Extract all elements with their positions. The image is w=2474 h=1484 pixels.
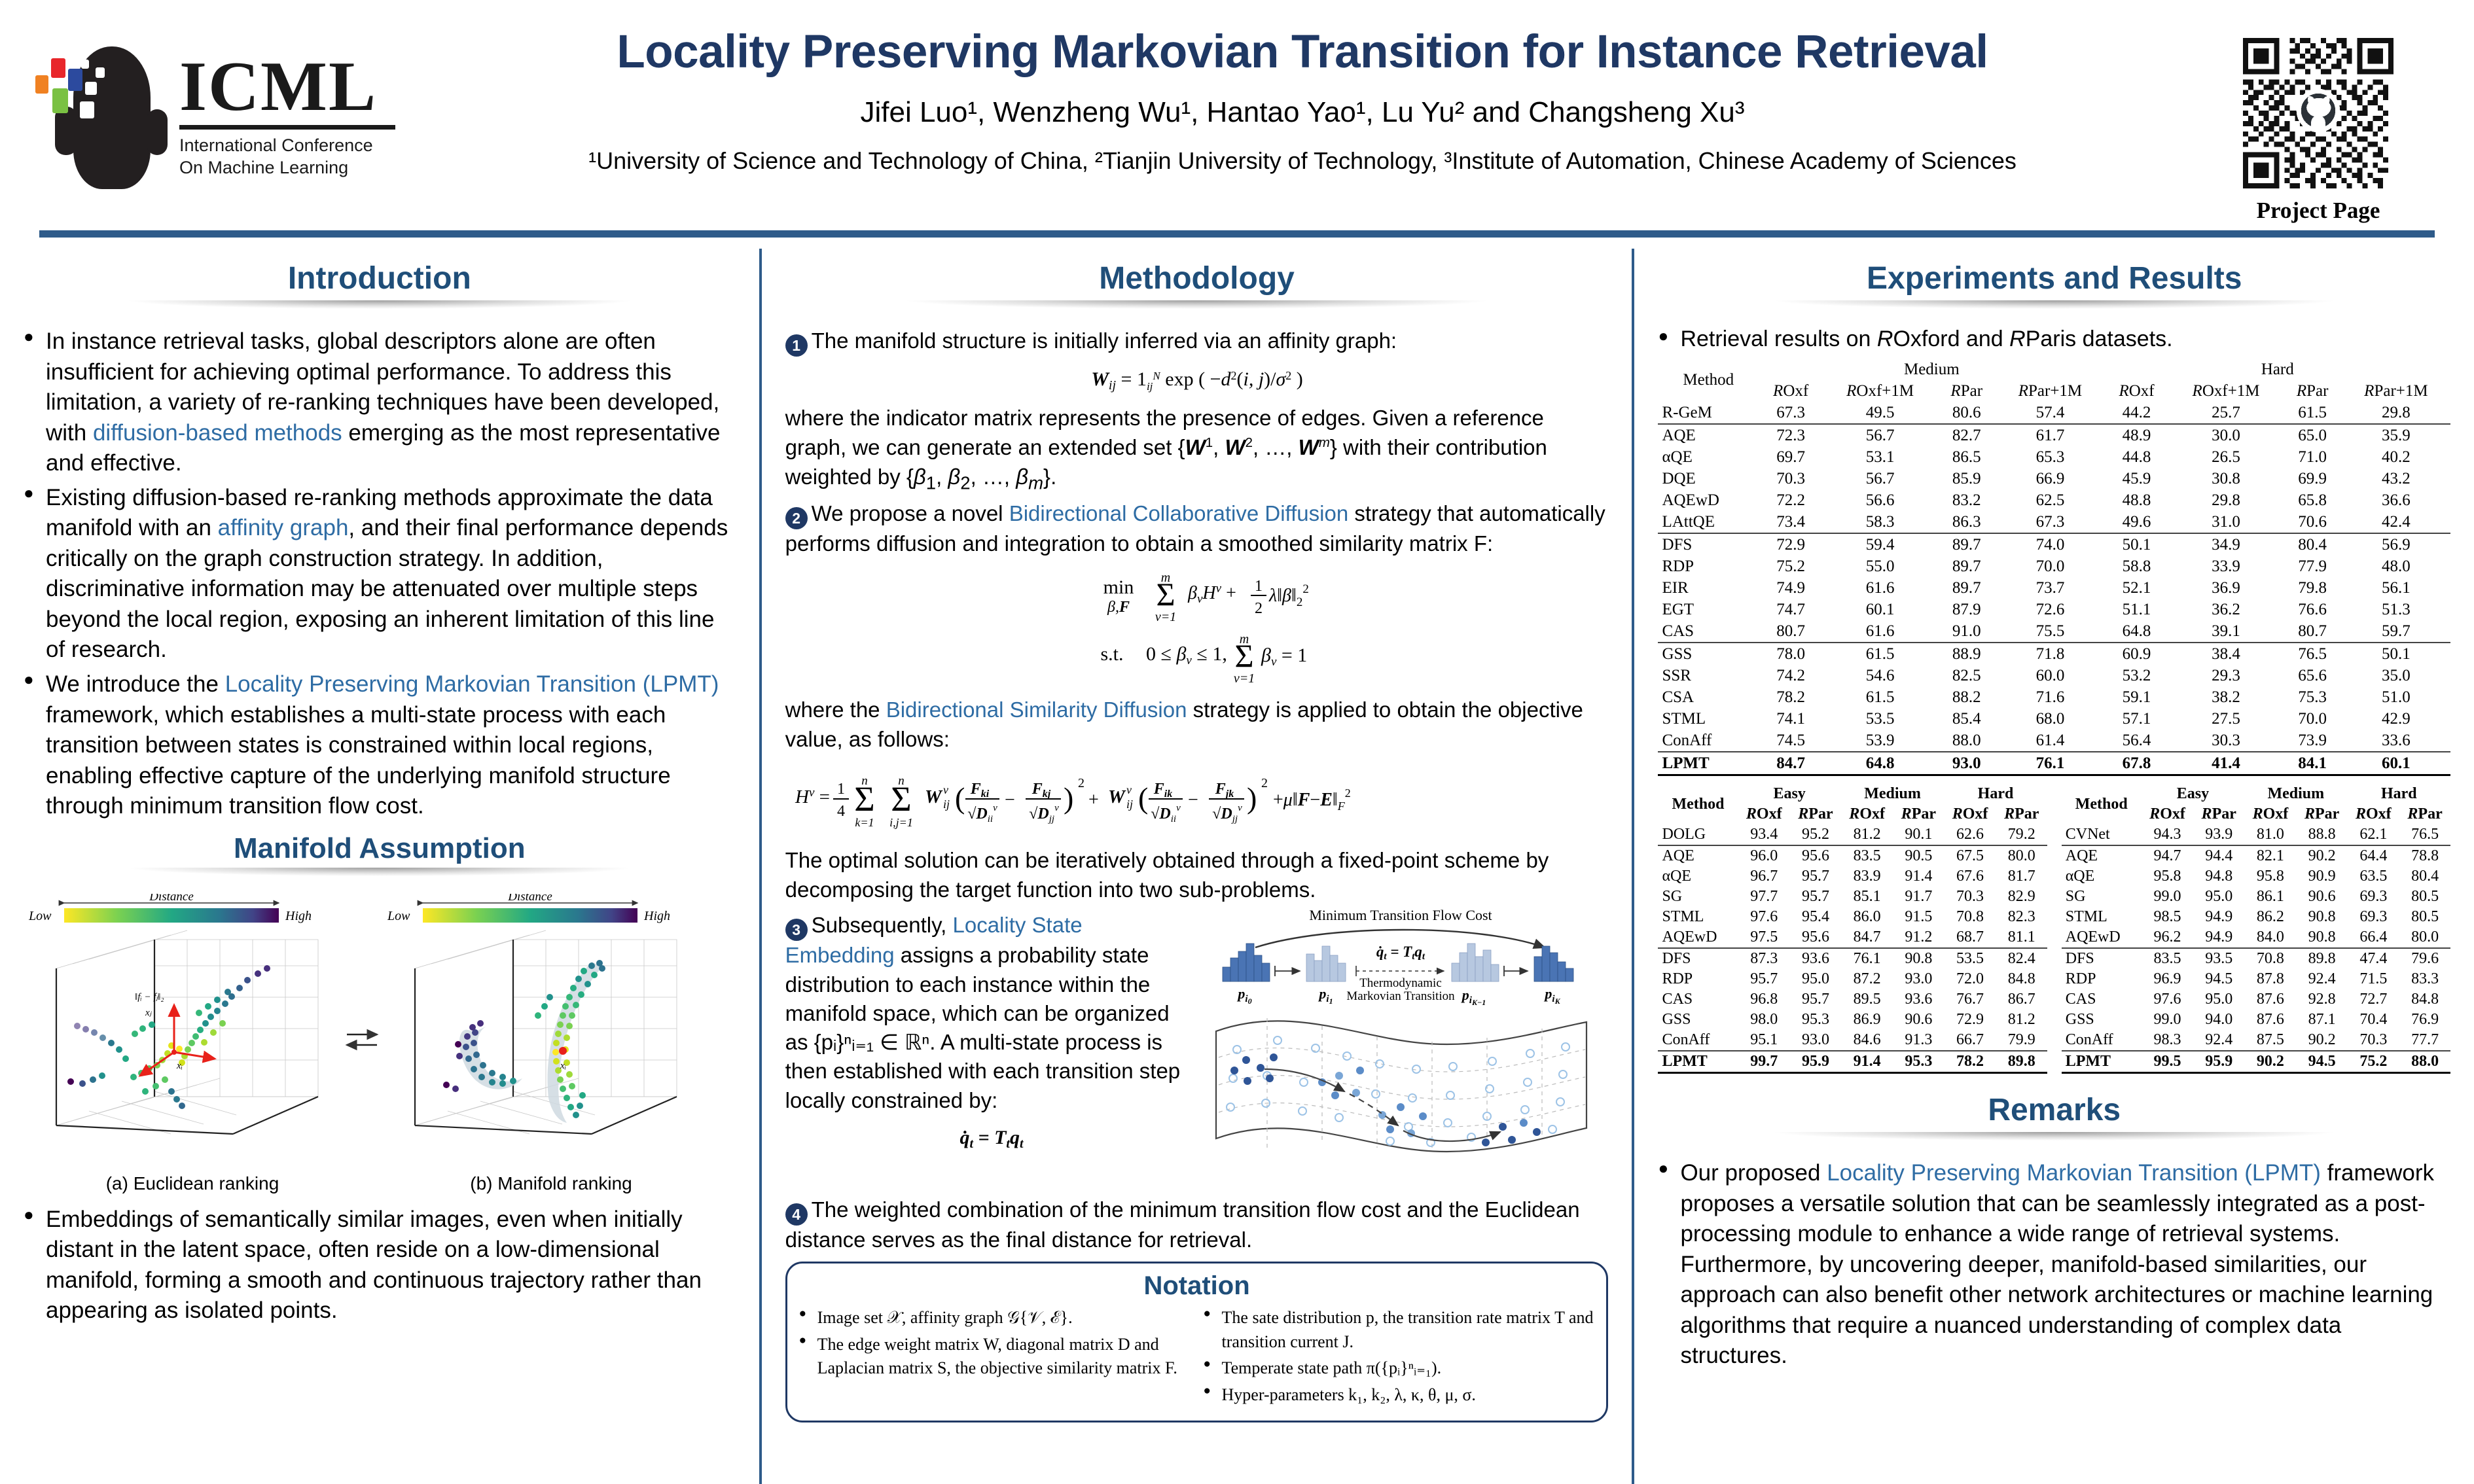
svg-text:2: 2 [1261, 776, 1268, 790]
cell-value-0: 95.8 [2142, 866, 2194, 887]
table-row: DFS83.593.570.889.847.479.6 [2062, 948, 2450, 969]
svg-text:β,F: β,F [1107, 599, 1130, 616]
cell-value-4: 60.9 [2105, 643, 2169, 665]
svg-text:High: High [643, 909, 670, 923]
svg-text:1: 1 [1255, 578, 1263, 595]
svg-text:s.t.: s.t. [1100, 643, 1123, 665]
cell-value-0: 99.0 [2142, 1010, 2194, 1030]
cell-value-3: 68.0 [1996, 708, 2104, 730]
column-subheader-4: ROxf [2105, 380, 2169, 402]
column-subheader-5: RPar [1996, 804, 2047, 824]
cell-method: R-GeM [1658, 402, 1759, 424]
cell-value-6: 75.3 [2284, 686, 2342, 708]
cell-value-2: 91.4 [1841, 1051, 1893, 1073]
remarks-bullets: Our proposed Locality Preserving Markovi… [1658, 1158, 2450, 1371]
list-item: The edge weight matrix W, diagonal matri… [799, 1333, 1191, 1381]
cell-value-5: 26.5 [2169, 446, 2284, 468]
cell-value-5: 30.0 [2169, 424, 2284, 446]
list-item: We introduce the Locality Preserving Mar… [24, 669, 736, 822]
svg-text:Wij = 1ijN exp ( −d2(i, j)/σ2: Wij = 1ijN exp ( −d2(i, j)/σ2 ) [1091, 368, 1303, 393]
title-block: Locality Preserving Markovian Transition… [419, 26, 2186, 175]
column-subheader-1: RPar [2193, 804, 2244, 824]
column-subheader-3: RPar [2297, 804, 2348, 824]
table-row: LPMT99.595.990.294.575.288.0 [2062, 1051, 2450, 1073]
svg-text:ij: ij [1126, 798, 1133, 811]
cell-value-3: 94.5 [2297, 1051, 2348, 1073]
table-row: R-GeM67.349.580.657.444.225.761.529.8 [1658, 402, 2450, 424]
section-divider [1664, 300, 2444, 317]
svg-text:Fik: Fik [1153, 781, 1172, 800]
cell-value-3: 70.0 [1996, 556, 2104, 577]
svg-text:0 ≤ βv ≤ 1,: 0 ≤ βv ≤ 1, [1146, 643, 1227, 667]
cell-value-3: 91.5 [1893, 907, 1944, 927]
svg-text:λ‖β‖22: λ‖β‖22 [1268, 582, 1309, 609]
cell-value-2: 86.5 [1937, 446, 1996, 468]
cell-value-1: 59.4 [1823, 533, 1937, 556]
cell-value-6: 61.5 [2284, 402, 2342, 424]
cell-value-1: 93.0 [1790, 1030, 1841, 1051]
cell-value-1: 93.6 [1790, 948, 1841, 969]
logo-divider [179, 125, 395, 130]
cell-value-1: 95.4 [1790, 907, 1841, 927]
cell-value-5: 33.9 [2169, 556, 2284, 577]
cell-value-4: 68.7 [1944, 927, 1996, 948]
cell-method: CAS [1658, 989, 1738, 1010]
cell-method: STML [1658, 907, 1738, 927]
cell-value-0: 72.2 [1759, 489, 1823, 511]
table-main-results: Method Medium Hard ROxfROxf+1MRParRPar+1… [1658, 359, 2450, 776]
group-header-medium: Medium [1759, 359, 2104, 380]
cell-value-3: 90.8 [2297, 907, 2348, 927]
cell-value-1: 60.1 [1823, 599, 1937, 620]
cell-value-2: 86.9 [1841, 1010, 1893, 1030]
cell-value-1: 95.6 [1790, 845, 1841, 866]
cell-value-6: 80.7 [2284, 620, 2342, 643]
svg-text:√Diiv: √Diiv [1151, 803, 1181, 824]
cell-value-1: 61.6 [1823, 620, 1937, 643]
notation-column-right: The sate distribution p, the transition … [1204, 1306, 1595, 1411]
step-badge-1: 1 [785, 334, 808, 357]
list-item: Our proposed Locality Preserving Markovi… [1658, 1158, 2450, 1371]
cell-value-5: 76.5 [2399, 824, 2450, 845]
section-title-remarks: Remarks [1658, 1092, 2450, 1128]
cell-value-3: 89.8 [2297, 948, 2348, 969]
cell-value-5: 41.4 [2169, 752, 2284, 775]
table-row: LPMT84.764.893.076.167.841.484.160.1 [1658, 752, 2450, 775]
cell-value-1: 54.6 [1823, 665, 1937, 686]
cell-value-0: 84.7 [1759, 752, 1823, 775]
notation-box: Notation Image set 𝒳, affinity graph 𝒢{𝒱… [785, 1262, 1609, 1423]
cell-method: αQE [1658, 866, 1738, 887]
svg-text:−: − [1005, 790, 1015, 810]
column-subheader-7: RPar+1M [2342, 380, 2450, 402]
cell-value-7: 50.1 [2342, 643, 2450, 665]
cell-value-3: 90.1 [1893, 824, 1944, 845]
cell-value-2: 83.5 [1841, 845, 1893, 866]
cell-value-3: 93.0 [1893, 969, 1944, 989]
svg-text:√Djjv: √Djjv [1029, 803, 1059, 824]
cell-value-0: 96.0 [1738, 845, 1790, 866]
cell-value-1: 93.9 [2193, 824, 2244, 845]
cell-value-4: 49.6 [2105, 511, 2169, 533]
cell-value-5: 80.0 [1996, 845, 2047, 866]
cell-value-5: 29.3 [2169, 665, 2284, 686]
svg-text:ij: ij [943, 798, 950, 811]
cell-value-1: 95.7 [1790, 887, 1841, 907]
cell-method: SG [2062, 887, 2142, 907]
cell-value-3: 74.0 [1996, 533, 2104, 556]
cell-value-7: 40.2 [2342, 446, 2450, 468]
cell-value-3: 71.8 [1996, 643, 2104, 665]
column-subheader-0: ROxf [1759, 380, 1823, 402]
table-row: αQE69.753.186.565.344.826.571.040.2 [1658, 446, 2450, 468]
section-divider [30, 868, 729, 885]
logo-subtitle-line1: International Conference [179, 135, 395, 157]
affiliation-list: ¹University of Science and Technology of… [419, 146, 2186, 175]
cell-value-4: 62.6 [1944, 824, 1996, 845]
notation-title: Notation [799, 1271, 1595, 1301]
cell-value-6: 71.0 [2284, 446, 2342, 468]
cell-value-2: 70.8 [2244, 948, 2297, 969]
svg-text:(: ( [955, 781, 965, 815]
cell-value-0: 78.0 [1759, 643, 1823, 665]
cell-value-2: 82.1 [2244, 845, 2297, 866]
cell-method: EGT [1658, 599, 1759, 620]
cell-method: LPMT [1658, 1051, 1738, 1073]
list-item: The sate distribution p, the transition … [1204, 1306, 1595, 1354]
cell-value-5: 39.1 [2169, 620, 2284, 643]
cell-value-1: 95.2 [1790, 824, 1841, 845]
table-row: AQE72.356.782.761.748.930.065.035.9 [1658, 424, 2450, 446]
svg-text:piK: piK [1543, 985, 1560, 1006]
cell-value-5: 29.8 [2169, 489, 2284, 511]
svg-text:High: High [285, 909, 312, 923]
column-methodology: Methodology 1The manifold structure is i… [759, 249, 1635, 1484]
cell-value-0: 75.2 [1759, 556, 1823, 577]
table-row: αQE96.795.783.991.467.681.7 [1658, 866, 2047, 887]
cell-value-5: 88.0 [2399, 1051, 2450, 1073]
svg-text:βvHv +: βvHv + [1187, 582, 1236, 606]
cell-value-0: 95.7 [1738, 969, 1790, 989]
cell-value-2: 93.0 [1937, 752, 1996, 775]
table-row: CAS80.761.691.075.564.839.180.759.7 [1658, 620, 2450, 643]
methodology-step-1: 1The manifold structure is initially inf… [785, 327, 1609, 357]
cell-value-0: 70.3 [1759, 468, 1823, 489]
cell-value-4: 57.1 [2105, 708, 2169, 730]
cell-method: LPMT [1658, 752, 1759, 775]
cell-value-3: 87.1 [2297, 1010, 2348, 1030]
cell-value-4: 52.1 [2105, 577, 2169, 599]
cell-value-3: 67.3 [1996, 511, 2104, 533]
svg-text:2: 2 [1078, 776, 1085, 790]
cell-method: DFS [1658, 948, 1738, 969]
cell-method: EIR [1658, 577, 1759, 599]
svg-text:(: ( [1138, 781, 1148, 815]
table-row: SG97.795.785.191.770.382.9 [1658, 887, 2047, 907]
column-subheader-3: RPar [1893, 804, 1944, 824]
cell-value-2: 88.0 [1937, 730, 1996, 752]
cell-value-0: 96.9 [2142, 969, 2194, 989]
cell-value-2: 85.4 [1937, 708, 1996, 730]
cell-value-2: 88.2 [1937, 686, 1996, 708]
table-row: AQE94.794.482.190.264.478.8 [2062, 845, 2450, 866]
cell-method: CAS [2062, 989, 2142, 1010]
cell-value-2: 86.2 [2244, 907, 2297, 927]
cell-value-5: 25.7 [2169, 402, 2284, 424]
page-title: Locality Preserving Markovian Transition… [419, 26, 2186, 79]
svg-text:Fki: Fki [969, 781, 989, 800]
cell-value-6: 84.1 [2284, 752, 2342, 775]
cell-value-1: 53.9 [1823, 730, 1937, 752]
cell-value-5: 27.5 [2169, 708, 2284, 730]
cell-value-4: 66.7 [1944, 1030, 1996, 1051]
cell-value-0: 98.3 [2142, 1030, 2194, 1051]
cell-method: SG [1658, 887, 1738, 907]
cell-value-5: 79.6 [2399, 948, 2450, 969]
svg-text:v=1: v=1 [1155, 610, 1175, 624]
cell-value-4: 66.4 [2348, 927, 2400, 948]
svg-text:4: 4 [837, 803, 845, 820]
cell-value-3: 90.5 [1893, 845, 1944, 866]
cell-value-1: 95.0 [1790, 969, 1841, 989]
cell-value-1: 56.6 [1823, 489, 1937, 511]
cell-value-1: 61.5 [1823, 686, 1937, 708]
cell-value-5: 80.0 [2399, 927, 2450, 948]
cell-value-2: 89.5 [1841, 989, 1893, 1010]
cell-value-2: 82.5 [1937, 665, 1996, 686]
cell-value-0: 74.5 [1759, 730, 1823, 752]
cell-value-2: 83.2 [1937, 489, 1996, 511]
svg-text:2: 2 [1255, 600, 1263, 617]
section-divider [792, 300, 1602, 317]
cell-value-6: 65.6 [2284, 665, 2342, 686]
svg-text:i,j=1: i,j=1 [889, 816, 913, 829]
cell-value-2: 87.9 [1937, 599, 1996, 620]
svg-text:): ) [1247, 781, 1257, 815]
subsection-title-manifold-assumption: Manifold Assumption [24, 832, 736, 865]
cell-value-4: 70.8 [1944, 907, 1996, 927]
column-subheader-4: ROxf [1944, 804, 1996, 824]
cell-value-1: 95.9 [2193, 1051, 2244, 1073]
cell-value-7: 42.4 [2342, 511, 2450, 533]
cell-value-3: 57.4 [1996, 402, 2104, 424]
column-subheader-5: ROxf+1M [2169, 380, 2284, 402]
cell-value-1: 95.7 [1790, 989, 1841, 1010]
column-subheader-2: ROxf [1841, 804, 1893, 824]
list-item: Hyper-parameters k₁, k₂, λ, κ, θ, μ, σ. [1204, 1383, 1595, 1407]
cell-value-4: 67.8 [2105, 752, 2169, 775]
cell-value-7: 51.0 [2342, 686, 2450, 708]
section-title-introduction: Introduction [24, 260, 736, 296]
svg-text:Low: Low [387, 909, 410, 923]
group-header-hard: Hard [2105, 359, 2450, 380]
cell-value-0: 72.9 [1759, 533, 1823, 556]
cell-value-2: 86.3 [1937, 511, 1996, 533]
cell-value-2: 95.8 [2244, 866, 2297, 887]
table-row: DOLG93.495.281.290.162.679.2 [1658, 824, 2047, 845]
cell-value-2: 87.5 [2244, 1030, 2297, 1051]
cell-value-0: 95.1 [1738, 1030, 1790, 1051]
figure-caption-a: (a) Euclidean ranking [106, 1173, 279, 1193]
equation-affinity: Wij = 1ijN exp ( −d2(i, j)/σ2 ) [785, 363, 1609, 397]
cell-value-4: 50.1 [2105, 533, 2169, 556]
cell-value-3: 71.6 [1996, 686, 2104, 708]
section-divider [1664, 1132, 2444, 1149]
cell-value-5: 38.2 [2169, 686, 2284, 708]
cell-value-0: 96.2 [2142, 927, 2194, 948]
cell-value-2: 87.8 [2244, 969, 2297, 989]
cell-value-4: 67.6 [1944, 866, 1996, 887]
cell-value-5: 34.9 [2169, 533, 2284, 556]
cell-value-2: 88.9 [1937, 643, 1996, 665]
header-divider [39, 230, 2435, 238]
figure-caption-b: (b) Manifold ranking [470, 1173, 632, 1193]
qr-code-icon[interactable] [2243, 38, 2393, 188]
cell-value-5: 77.7 [2399, 1030, 2450, 1051]
cell-value-7: 43.2 [2342, 468, 2450, 489]
cell-method: DFS [1658, 533, 1759, 556]
cell-value-6: 65.0 [2284, 424, 2342, 446]
cell-value-3: 76.1 [1996, 752, 2104, 775]
cell-value-0: 99.5 [2142, 1051, 2194, 1073]
cell-value-0: 74.1 [1759, 708, 1823, 730]
cell-value-0: 69.7 [1759, 446, 1823, 468]
list-item: Image set 𝒳, affinity graph 𝒢{𝒱, ℰ}. [799, 1306, 1191, 1330]
cell-value-6: 76.5 [2284, 643, 2342, 665]
group-header-medium: Medium [1841, 784, 1944, 804]
cell-value-4: 63.5 [2348, 866, 2400, 887]
cell-value-5: 89.8 [1996, 1051, 2047, 1073]
cell-value-1: 94.9 [2193, 927, 2244, 948]
cell-value-5: 82.9 [1996, 887, 2047, 907]
cell-value-5: 38.4 [2169, 643, 2284, 665]
cell-value-2: 84.7 [1841, 927, 1893, 948]
cell-value-4: 72.0 [1944, 969, 1996, 989]
table-row: GSS78.061.588.971.860.938.476.550.1 [1658, 643, 2450, 665]
table-row: SSR74.254.682.560.053.229.365.635.0 [1658, 665, 2450, 686]
cell-value-4: 70.3 [2348, 1030, 2400, 1051]
table-row: AQEwD72.256.683.262.548.829.865.836.6 [1658, 489, 2450, 511]
column-header-method: Method [1658, 359, 1759, 402]
svg-text:Distance: Distance [149, 894, 194, 904]
svg-text:Σ: Σ [1234, 637, 1253, 674]
cell-value-1: 95.0 [2193, 989, 2244, 1010]
icml-logo: ICML International Conference On Machine… [39, 31, 406, 202]
cell-method: CSA [1658, 686, 1759, 708]
table-row: ConAff74.553.988.061.456.430.373.933.6 [1658, 730, 2450, 752]
cell-value-7: 35.9 [2342, 424, 2450, 446]
cell-method: ConAff [1658, 730, 1759, 752]
cell-value-3: 61.7 [1996, 424, 2104, 446]
cell-method: RDP [1658, 556, 1759, 577]
column-experiments: Experiments and Results Retrieval result… [1634, 249, 2474, 1484]
cell-value-2: 89.7 [1937, 577, 1996, 599]
svg-text:Fkj: Fkj [1031, 781, 1050, 800]
svg-text:pi1: pi1 [1318, 985, 1333, 1006]
cell-value-2: 81.2 [1841, 824, 1893, 845]
cell-value-3: 90.2 [2297, 1030, 2348, 1051]
cell-value-1: 56.7 [1823, 424, 1937, 446]
cell-value-4: 70.4 [2348, 1010, 2400, 1030]
notation-column-left: Image set 𝒳, affinity graph 𝒢{𝒱, ℰ}. The… [799, 1306, 1191, 1411]
cell-value-0: 83.5 [2142, 948, 2194, 969]
svg-text:Hv =: Hv = [795, 786, 830, 807]
cell-value-1: 49.5 [1823, 402, 1937, 424]
column-subheader-2: ROxf [2244, 804, 2297, 824]
cell-value-2: 90.2 [2244, 1051, 2297, 1073]
svg-text:xᵢ: xᵢ [176, 1061, 183, 1071]
column-subheader-3: RPar+1M [1996, 380, 2104, 402]
cell-method: AQEwD [1658, 927, 1738, 948]
cell-value-5: 80.5 [2399, 907, 2450, 927]
logo-wordmark: ICML [179, 54, 395, 121]
list-item: Embeddings of semantically similar image… [24, 1205, 736, 1326]
table-row: EIR74.961.689.773.752.136.979.856.1 [1658, 577, 2450, 599]
cell-value-6: 73.9 [2284, 730, 2342, 752]
table-row: DFS87.393.676.190.853.582.4 [1658, 948, 2047, 969]
table-row: CAS96.895.789.593.676.786.7 [1658, 989, 2047, 1010]
cell-value-1: 53.5 [1823, 708, 1937, 730]
svg-text:Distance: Distance [507, 894, 552, 904]
table-dolg-results: Method Easy Medium Hard ROxfRParROxfRPar… [1658, 784, 2047, 1074]
svg-text:W: W [1108, 786, 1126, 807]
svg-text:√Djjv: √Djjv [1212, 803, 1242, 824]
cell-value-1: 56.7 [1823, 468, 1937, 489]
table-row: EGT74.760.187.972.651.136.276.651.3 [1658, 599, 2450, 620]
icml-brain-icon [39, 41, 170, 192]
cell-method: AQE [1658, 845, 1738, 866]
cell-value-4: 59.1 [2105, 686, 2169, 708]
cell-method: αQE [1658, 446, 1759, 468]
svg-text:Fjk: Fjk [1214, 781, 1233, 800]
svg-text:pi0: pi0 [1236, 985, 1251, 1006]
table-row: AQEwD96.294.984.090.866.480.0 [2062, 927, 2450, 948]
cell-value-1: 53.1 [1823, 446, 1937, 468]
table-row: RDP95.795.087.293.072.084.8 [1658, 969, 2047, 989]
cell-value-4: 64.4 [2348, 845, 2400, 866]
cell-value-2: 87.2 [1841, 969, 1893, 989]
cell-value-7: 36.6 [2342, 489, 2450, 511]
cell-value-2: 91.0 [1937, 620, 1996, 643]
manifold-assumption-figure: Low High Distance Low High Distance [24, 894, 736, 1198]
cell-value-2: 87.6 [2244, 989, 2297, 1010]
cell-value-0: 97.6 [2142, 989, 2194, 1010]
column-subheader-0: ROxf [2142, 804, 2194, 824]
minimum-transition-flow-figure: Minimum Transition Flow Cost pi0 [1204, 907, 1609, 1192]
cell-value-3: 91.3 [1893, 1030, 1944, 1051]
cell-value-5: 79.2 [1996, 824, 2047, 845]
svg-text:+: + [1088, 790, 1099, 810]
project-page-qr[interactable]: Project Page [2220, 38, 2416, 224]
cell-value-5: 86.7 [1996, 989, 2047, 1010]
table-row: DQE70.356.785.966.945.930.869.943.2 [1658, 468, 2450, 489]
cell-value-0: 94.3 [2142, 824, 2194, 845]
column-header-method: Method [1658, 784, 1738, 824]
cell-method: GSS [1658, 1010, 1738, 1030]
cell-method: RDP [2062, 969, 2142, 989]
list-item: Temperate state path π({pᵢ}ⁿᵢ₌₁). [1204, 1356, 1595, 1381]
cell-value-0: 99.0 [2142, 887, 2194, 907]
table-row: RDP75.255.089.770.058.833.977.948.0 [1658, 556, 2450, 577]
cell-value-1: 93.5 [2193, 948, 2244, 969]
svg-text:xᵢ: xᵢ [560, 1061, 566, 1071]
cell-value-4: 71.5 [2348, 969, 2400, 989]
cell-value-0: 78.2 [1759, 686, 1823, 708]
cell-value-4: 51.1 [2105, 599, 2169, 620]
methodology-step-4: 4The weighted combination of the minimum… [785, 1195, 1609, 1254]
table-row: RDP96.994.587.892.471.583.3 [2062, 969, 2450, 989]
cell-value-0: 94.7 [2142, 845, 2194, 866]
